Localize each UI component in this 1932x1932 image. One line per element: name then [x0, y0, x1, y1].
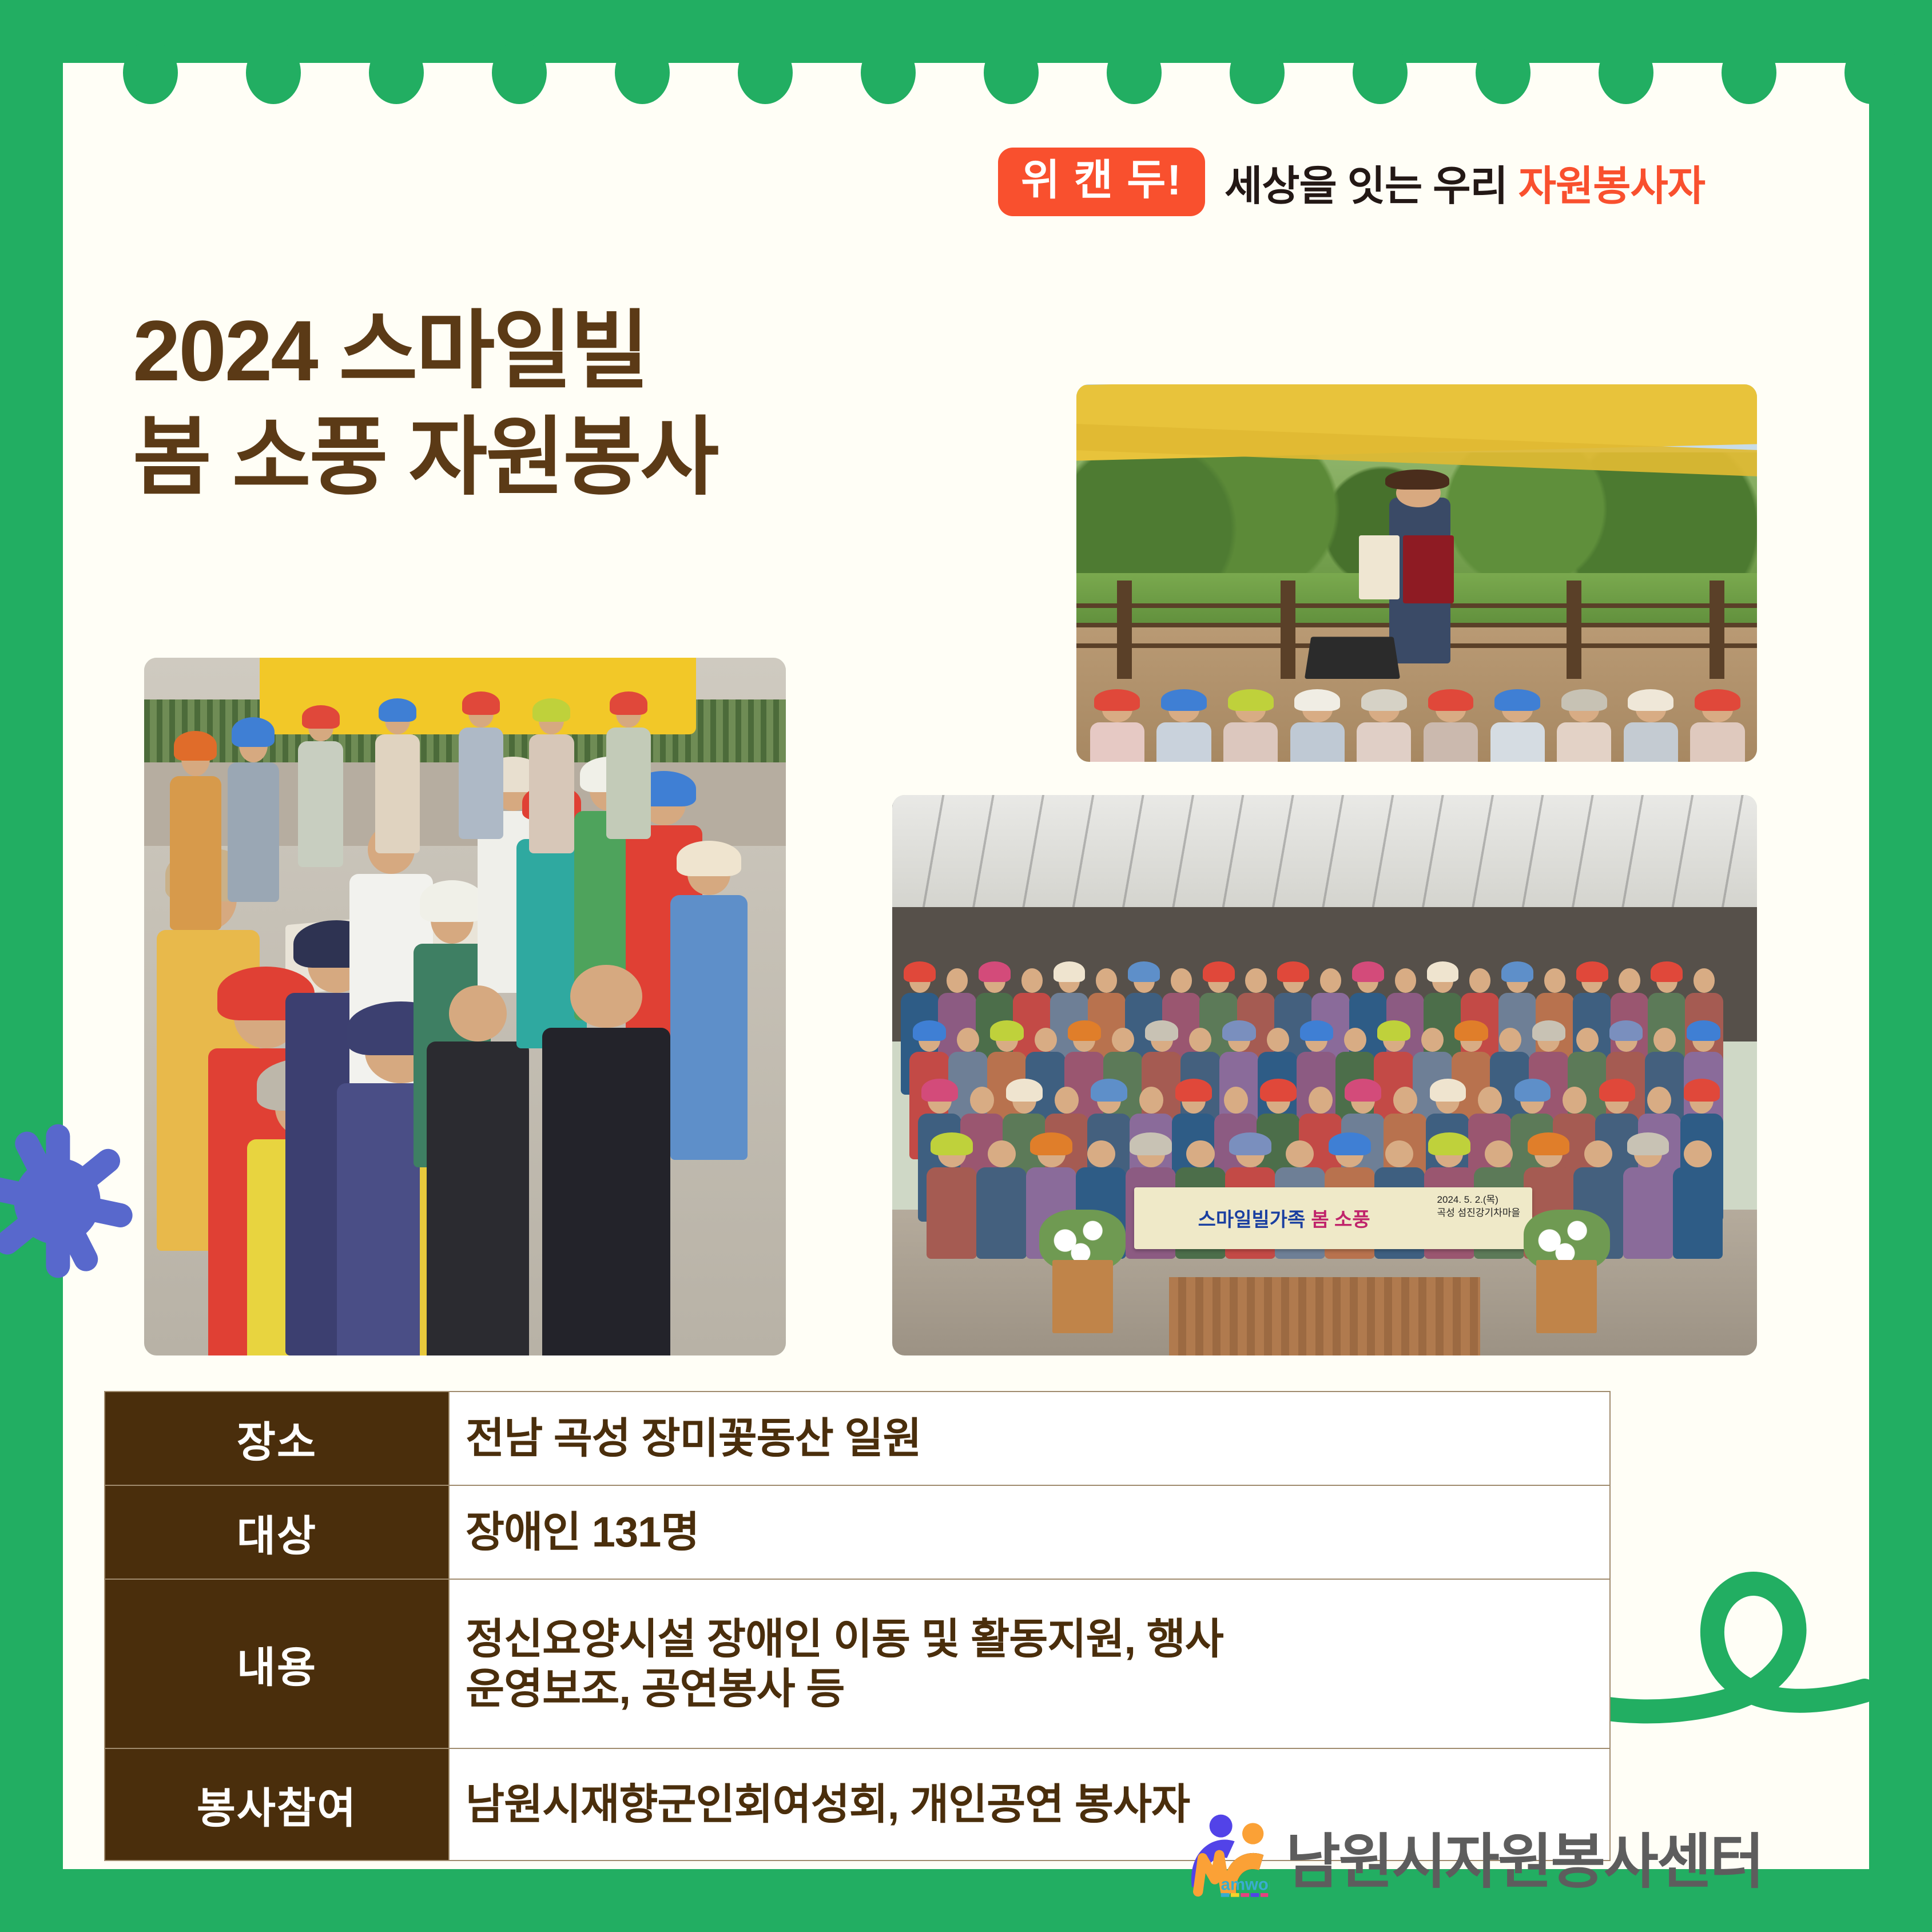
person-hat: [420, 880, 484, 922]
person-hat: [1161, 689, 1207, 711]
dot-stem: [1868, 0, 1876, 69]
person-hat: [302, 705, 340, 729]
meal-serving-photo: [144, 658, 786, 1355]
footer-logo: amwon 남원시자원봉사센터: [1178, 1813, 1763, 1899]
serving-photo-canvas: [144, 658, 786, 1355]
person-head: [1035, 1028, 1057, 1052]
seated-audience: [1076, 686, 1757, 762]
person-hat: [1684, 1079, 1720, 1102]
accordion-bellows: [1403, 535, 1454, 603]
person-silhouette: [459, 728, 504, 839]
we-can-do-badge: 위 캔 두!: [998, 148, 1205, 216]
person-hat: [1352, 961, 1384, 982]
person-hat: [1091, 1079, 1127, 1102]
person-hat: [1628, 689, 1673, 711]
group-photo: 스마일빌가족 봄 소풍 2024. 5. 2.(목) 곡성 섬진강기차마을: [892, 795, 1757, 1355]
table-row: 내용 정신요양시설 장애인 이동 및 활동지원, 행사 운영보조, 공연봉사 등: [105, 1579, 1610, 1748]
person-head: [1267, 1028, 1289, 1052]
table-row: 대상 장애인 131명: [105, 1485, 1610, 1579]
accordion-photo-canvas: [1076, 384, 1757, 762]
page-title: 2024 스마일빌 봄 소풍 자원봉사: [133, 297, 717, 510]
person-hat: [1229, 1132, 1271, 1155]
person-head: [947, 968, 968, 992]
group-photo-canvas: 스마일빌가족 봄 소풍 2024. 5. 2.(목) 곡성 섬진강기차마을: [892, 795, 1757, 1355]
railing-post: [1117, 581, 1132, 679]
banner-main-text: 스마일빌가족: [1198, 1204, 1306, 1232]
person-silhouette: [1490, 722, 1545, 762]
planter-pot: [1052, 1260, 1113, 1333]
person-hat: [532, 698, 570, 722]
person-hat: [1561, 689, 1607, 711]
person-head: [1245, 968, 1266, 992]
person-silhouette: [1424, 722, 1478, 762]
person-silhouette: [1357, 722, 1411, 762]
person-hat: [1294, 689, 1340, 711]
person-hat: [1428, 689, 1474, 711]
person-hat: [1651, 961, 1683, 982]
music-stand: [1304, 637, 1400, 679]
person-hat: [1377, 1020, 1410, 1041]
person-silhouette: [1623, 1167, 1673, 1259]
svg-text:amwon: amwon: [1221, 1875, 1270, 1894]
poster-root: 위 캔 두! 세상을 잇는 우리 자원봉사자 2024 스마일빌 봄 소풍 자원…: [0, 0, 1932, 1932]
person-head: [1171, 968, 1192, 992]
event-info-table: 장소 전남 곡성 장미꽃동산 일원 대상 장애인 131명 내용 정신요양시설 …: [104, 1391, 1611, 1861]
person-hat: [1532, 1020, 1565, 1041]
person-hat: [1203, 961, 1235, 982]
person-hat: [1128, 961, 1160, 982]
person-silhouette: [427, 1041, 530, 1355]
person-hat: [1260, 1079, 1297, 1102]
railing-post: [1710, 581, 1724, 679]
brick-path: [1169, 1277, 1480, 1355]
person-hat: [1277, 961, 1309, 982]
person-hat: [979, 961, 1011, 982]
person-silhouette: [1690, 722, 1744, 762]
accordion-keyboard: [1359, 535, 1400, 599]
person-silhouette: [606, 728, 651, 839]
dot-stem: [1499, 0, 1507, 69]
person-head: [1021, 968, 1043, 992]
person-silhouette: [976, 1167, 1027, 1259]
info-key-content: 내용: [105, 1579, 449, 1748]
dot-stem: [1376, 0, 1384, 69]
event-banner: 스마일빌가족 봄 소풍 2024. 5. 2.(목) 곡성 섬진강기차마을: [1134, 1187, 1532, 1249]
person-hat: [1228, 689, 1274, 711]
person-hat: [1094, 689, 1140, 711]
person-hat: [913, 1020, 946, 1041]
person-hat: [1329, 1132, 1371, 1155]
banner-accent-text: 봄 소풍: [1311, 1204, 1370, 1232]
person-head: [1619, 968, 1640, 992]
banner-date-text: 2024. 5. 2.(목) 곡성 섬진강기차마을: [1437, 1194, 1520, 1220]
tagline-prefix: 세상을 잇는 우리: [1225, 164, 1508, 209]
person-silhouette: [529, 734, 574, 853]
person-hat: [1030, 1132, 1072, 1155]
person-silhouette: [170, 776, 221, 929]
railing-post: [1567, 581, 1581, 679]
person-silhouette: [542, 1028, 670, 1355]
table-row: 장소 전남 곡성 장미꽃동산 일원: [105, 1392, 1610, 1485]
person-hat: [1068, 1020, 1101, 1041]
info-key-place: 장소: [105, 1392, 449, 1485]
person-head: [1544, 968, 1565, 992]
person-silhouette: [1290, 722, 1345, 762]
namwon-people-icon: amwon: [1178, 1814, 1270, 1899]
info-value-content: 정신요양시설 장애인 이동 및 활동지원, 행사 운영보조, 공연봉사 등: [449, 1579, 1610, 1748]
dot-stem: [638, 0, 646, 69]
person-hat: [1514, 1079, 1551, 1102]
tagline-accent: 자원봉사자: [1518, 164, 1705, 209]
person-head: [1576, 1028, 1599, 1052]
person-hat: [610, 691, 647, 715]
person-hat: [1300, 1020, 1333, 1041]
dot-stem: [761, 0, 769, 69]
person-head: [1694, 968, 1715, 992]
person-head: [1096, 968, 1117, 992]
info-value-target: 장애인 131명: [449, 1485, 1610, 1579]
accordion-performance-photo: [1076, 384, 1757, 762]
person-hat: [1501, 961, 1533, 982]
person-hat: [1528, 1132, 1570, 1155]
person-head: [957, 1028, 979, 1052]
person-head: [1112, 1028, 1134, 1052]
person-head: [1320, 968, 1341, 992]
person-head: [1469, 968, 1490, 992]
person-hat: [904, 961, 936, 982]
planter-pot: [1536, 1260, 1597, 1333]
person-hat: [1576, 961, 1608, 982]
dot-stem: [392, 0, 400, 69]
person-hat: [1175, 1079, 1212, 1102]
dot-stem: [1130, 0, 1138, 69]
person-hat: [1006, 1079, 1043, 1102]
center-name-text: 남원시자원봉사센터: [1286, 1813, 1763, 1899]
dot-stem: [1253, 0, 1261, 69]
person-silhouette: [298, 741, 343, 867]
person-hat: [1427, 961, 1459, 982]
person-hat: [379, 698, 416, 722]
person-silhouette: [228, 762, 279, 902]
person-hat: [462, 691, 500, 715]
person-hat: [1494, 689, 1540, 711]
person-hat: [1130, 1132, 1172, 1155]
person-hat: [990, 1020, 1023, 1041]
roof-structure-ribs: [892, 795, 1757, 919]
person-hat: [677, 841, 741, 876]
dot-stem: [1745, 0, 1753, 69]
person-hat: [1428, 1132, 1470, 1155]
person-silhouette: [375, 734, 420, 853]
person-silhouette: [1557, 722, 1611, 762]
person-silhouette: [1624, 722, 1678, 762]
fedora-hat: [1385, 470, 1449, 490]
person-hat: [1145, 1020, 1178, 1041]
person-head: [988, 1140, 1016, 1167]
person-head: [570, 965, 642, 1028]
person-head: [1087, 1140, 1115, 1167]
info-key-volunteers: 봉사참여: [105, 1748, 449, 1861]
person-silhouette: [1673, 1167, 1723, 1259]
person-hat: [1430, 1079, 1466, 1102]
person-hat: [921, 1079, 958, 1102]
info-key-target: 대상: [105, 1485, 449, 1579]
dot-stem: [1622, 0, 1630, 69]
dot-stem: [884, 0, 892, 69]
person-hat: [931, 1132, 973, 1155]
person-hat: [1695, 689, 1740, 711]
dot-stem: [269, 0, 277, 69]
person-hat: [232, 717, 275, 747]
person-silhouette: [1156, 722, 1211, 762]
person-hat: [1599, 1079, 1636, 1102]
person-hat: [1454, 1020, 1488, 1041]
dot-stem: [146, 0, 154, 69]
person-head: [1499, 1028, 1521, 1052]
person-hat: [1609, 1020, 1643, 1041]
person-hat: [174, 731, 217, 761]
person-head: [1186, 1140, 1214, 1167]
person-silhouette: [670, 895, 748, 1160]
person-silhouette: [1223, 722, 1278, 762]
dot-stem: [1007, 0, 1015, 69]
railing-post: [1281, 581, 1295, 679]
person-hat: [1627, 1132, 1669, 1155]
person-head: [449, 985, 507, 1041]
person-hat: [1054, 961, 1086, 982]
dot-stem: [515, 0, 523, 69]
person-silhouette: [927, 1167, 977, 1259]
person-hat: [1345, 1079, 1381, 1102]
person-head: [1395, 968, 1416, 992]
person-hat: [1361, 689, 1407, 711]
person-hat: [1222, 1020, 1255, 1041]
tagline-text: 세상을 잇는 우리 자원봉사자: [1225, 152, 1705, 212]
person-silhouette: [1090, 722, 1144, 762]
info-value-place: 전남 곡성 장미꽃동산 일원: [449, 1392, 1610, 1485]
person-hat: [1687, 1020, 1720, 1041]
person-head: [1344, 1028, 1366, 1052]
asterisk-flower-icon: [0, 1121, 137, 1281]
header-tagline: 위 캔 두! 세상을 잇는 우리 자원봉사자: [998, 148, 1705, 216]
